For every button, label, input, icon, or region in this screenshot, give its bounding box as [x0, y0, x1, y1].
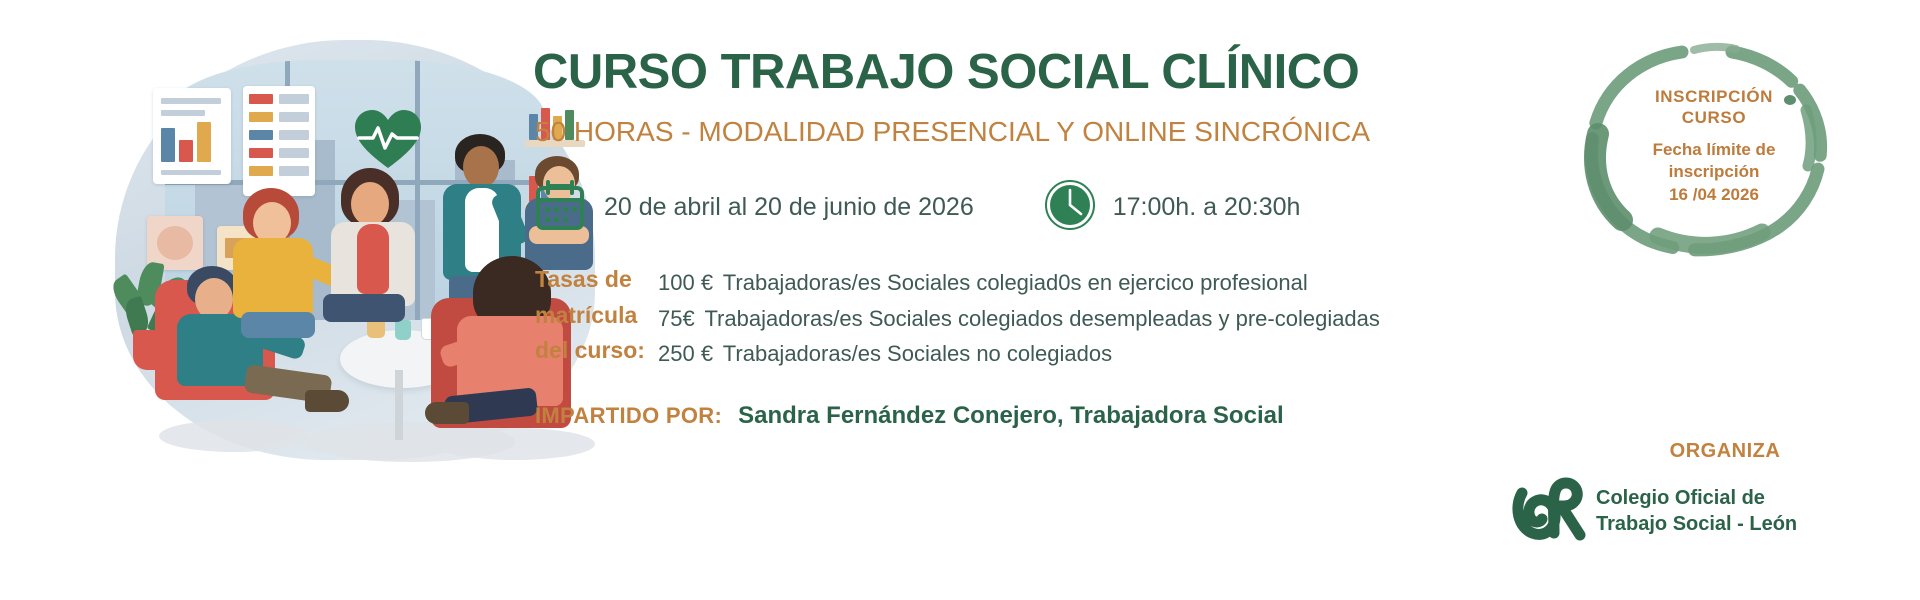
schedule-info-row: 20 de abril al 20 de junio de 2026 17:00… — [533, 178, 1300, 237]
heartbeat-icon — [353, 108, 423, 172]
fees-label-line-2: matrícula — [535, 298, 645, 334]
course-dates-text: 20 de abril al 20 de junio de 2026 — [604, 193, 974, 222]
wall-notes-poster — [243, 86, 315, 196]
registration-deadline-badge: INSCRIPCIÓN CURSO Fecha límite de inscri… — [1574, 38, 1854, 260]
organizer-section: ORGANIZA Colegio Oficial de Trabajo Soci… — [1510, 440, 1890, 548]
course-promo-banner: CURSO TRABAJO SOCIAL CLÍNICO 50 HORAS - … — [0, 0, 1920, 600]
page-title: CURSO TRABAJO SOCIAL CLÍNICO — [533, 44, 1359, 100]
wall-chart-poster — [153, 88, 231, 184]
fees-label-line-3: del curso: — [535, 333, 645, 369]
course-schedule-item: 17:00h. a 20:30h — [1044, 179, 1301, 236]
badge-subtext-line-1: Fecha límite de — [1574, 139, 1854, 162]
fees-label-line-1: Tasas de — [535, 262, 645, 298]
clock-icon — [1044, 179, 1096, 236]
colegio-oficial-logo-icon — [1510, 473, 1588, 548]
course-details: CURSO TRABAJO SOCIAL CLÍNICO 50 HORAS - … — [533, 0, 1513, 600]
organiza-label: ORGANIZA — [1510, 440, 1890, 463]
instructor-section: IMPARTIDO POR: Sandra Fernández Conejero… — [535, 402, 1284, 430]
badge-subtext-line-2: inscripción — [1574, 161, 1854, 184]
course-subtitle: 50 HORAS - MODALIDAD PRESENCIAL Y ONLINE… — [535, 116, 1370, 148]
fee-item: 75€ Trabajadoras/es Sociales colegiados … — [658, 301, 1380, 337]
fee-description: Trabajadoras/es Sociales colegiad0s en e… — [723, 270, 1308, 295]
course-dates-item: 20 de abril al 20 de junio de 2026 — [533, 178, 974, 237]
fee-item: 250 € Trabajadoras/es Sociales no colegi… — [658, 336, 1380, 372]
organizer-name: Colegio Oficial de Trabajo Social - León — [1596, 485, 1797, 537]
fee-amount: 75€ — [658, 306, 695, 331]
fee-item: 100 € Trabajadoras/es Sociales colegiad0… — [658, 265, 1380, 301]
instructor-name: Sandra Fernández Conejero, Trabajadora S… — [738, 402, 1284, 430]
badge-heading-line-1: INSCRIPCIÓN — [1574, 86, 1854, 107]
fees-label: Tasas de matrícula del curso: — [535, 262, 645, 369]
fee-amount: 100 € — [658, 270, 713, 295]
badge-heading-line-2: CURSO — [1574, 107, 1854, 128]
organizer-name-line-1: Colegio Oficial de — [1596, 485, 1797, 511]
fees-section: Tasas de matrícula del curso: 100 € Trab… — [535, 262, 1380, 372]
fee-description: Trabajadoras/es Sociales no colegiados — [723, 341, 1112, 366]
fee-description: Trabajadoras/es Sociales colegiados dese… — [704, 306, 1379, 331]
badge-text-block: INSCRIPCIÓN CURSO Fecha límite de inscri… — [1574, 86, 1854, 207]
fees-list: 100 € Trabajadoras/es Sociales colegiad0… — [658, 262, 1380, 372]
organizer-logo-row: Colegio Oficial de Trabajo Social - León — [1510, 473, 1890, 548]
course-schedule-text: 17:00h. a 20:30h — [1113, 193, 1301, 222]
calendar-icon — [533, 178, 587, 237]
organizer-name-line-2: Trabajo Social - León — [1596, 511, 1797, 537]
badge-deadline-date: 16 /04 2026 — [1574, 184, 1854, 207]
fee-amount: 250 € — [658, 341, 713, 366]
instructor-label: IMPARTIDO POR: — [535, 403, 722, 429]
table-leg — [395, 370, 403, 440]
